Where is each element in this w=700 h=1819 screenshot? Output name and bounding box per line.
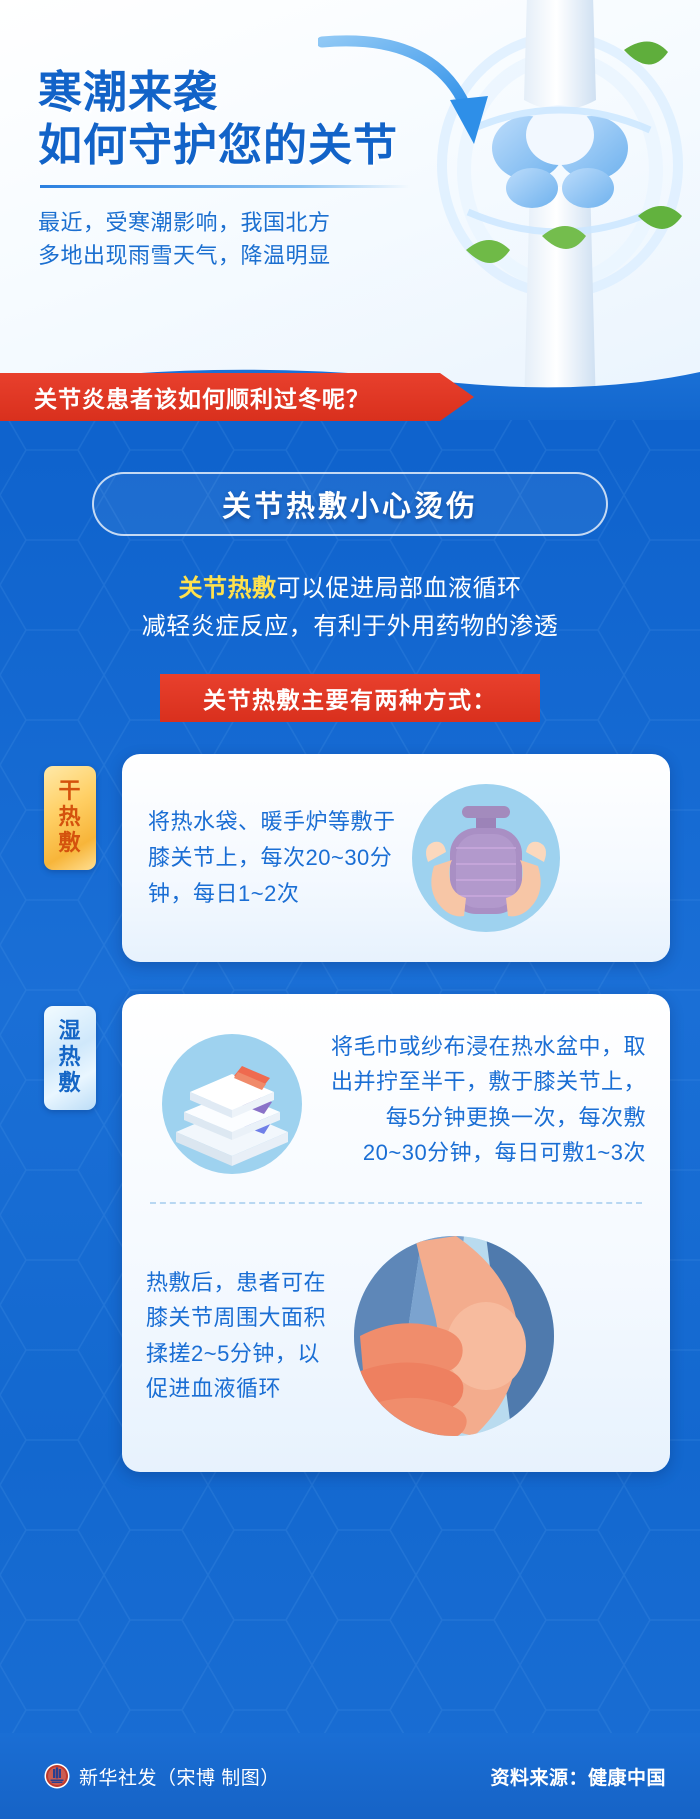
methods-red-tag-text: 关节热敷主要有两种方式： [203, 681, 497, 715]
dry-heat-text: 将热水袋、暖手炉等敷于膝关节上，每次20~30分钟，每日1~2次 [148, 804, 398, 911]
dry-heat-tag-char-1: 热 [44, 804, 96, 830]
lead-line2: 减轻炎症反应，有利于外用药物的渗透 [60, 608, 640, 646]
moist-heat-tag-char-0: 湿 [44, 1018, 96, 1044]
source-text: 资料来源：健康中国 [490, 1763, 666, 1790]
xinhua-agency-logo [44, 1763, 70, 1789]
method-moist-heat: 湿 热 敷 [0, 994, 700, 1472]
title-divider [40, 185, 410, 188]
moist-heat-tag-char-1: 热 [44, 1044, 96, 1070]
moist-heat-card: 将毛巾或纱布浸在热水盆中，取出并拧至半干，敷于膝关节上，每5分钟更换一次，每次敷… [122, 994, 670, 1472]
dry-heat-card: 将热水袋、暖手炉等敷于膝关节上，每次20~30分钟，每日1~2次 [122, 754, 670, 962]
hero-subtitle-line2: 多地出现雨雪天气，降温明显 [38, 239, 700, 272]
hero-question-text: 关节炎患者该如何顺利过冬呢？ [34, 380, 370, 414]
methods-red-tag: 关节热敷主要有两种方式： [160, 674, 540, 722]
hero-question-banner: 关节炎患者该如何顺利过冬呢？ [0, 373, 474, 421]
credit-text: 新华社发（宋博 制图） [79, 1763, 280, 1790]
section-heading-pill: 关节热敷小心烫伤 [92, 472, 608, 536]
moist-heat-tag: 湿 热 敷 [44, 1006, 96, 1110]
knee-massage-hands-icon [336, 1218, 572, 1454]
method-dry-heat: 干 热 敷 将热水袋、暖手炉等敷于膝关节上，每次20~30分钟，每日1~2次 [0, 754, 700, 962]
dry-heat-tag-char-0: 干 [44, 778, 96, 804]
hero-section: 寒潮来袭 如何守护您的关节 最近，受寒潮影响，我国北方 多地出现雨雪天气，降温明… [0, 0, 700, 420]
hero-subtitle-line1: 最近，受寒潮影响，我国北方 [38, 206, 700, 239]
folded-towels-icon [146, 1014, 318, 1186]
section-heading-text: 关节热敷小心烫伤 [222, 483, 478, 525]
card-divider [150, 1202, 642, 1204]
credit-block: 新华社发（宋博 制图） [44, 1763, 280, 1790]
dry-heat-tag-char-2: 敷 [44, 830, 96, 856]
footer: 新华社发（宋博 制图） 资料来源：健康中国 [0, 1733, 700, 1819]
lead-highlight: 关节热敷 [179, 575, 277, 602]
hot-water-bottle-hands-icon [398, 770, 574, 946]
content-body: 关节热敷小心烫伤 关节热敷可以促进局部血液循环 减轻炎症反应，有利于外用药物的渗… [0, 472, 700, 1472]
moist-heat-text-top: 将毛巾或纱布浸在热水盆中，取出并拧至半干，敷于膝关节上，每5分钟更换一次，每次敷… [324, 1029, 646, 1172]
lead-rest-line1: 可以促进局部血液循环 [277, 575, 522, 602]
infographic-page: 寒潮来袭 如何守护您的关节 最近，受寒潮影响，我国北方 多地出现雨雪天气，降温明… [0, 0, 700, 1819]
dry-heat-tag: 干 热 敷 [44, 766, 96, 870]
section-lead-text: 关节热敷可以促进局部血液循环 减轻炎症反应，有利于外用药物的渗透 [60, 570, 640, 646]
moist-heat-text-bottom: 热敷后，患者可在膝关节周围大面积揉搓2~5分钟，以促进血液循环 [146, 1265, 332, 1408]
moist-heat-tag-char-2: 敷 [44, 1070, 96, 1096]
curved-arrow-icon [318, 34, 508, 164]
